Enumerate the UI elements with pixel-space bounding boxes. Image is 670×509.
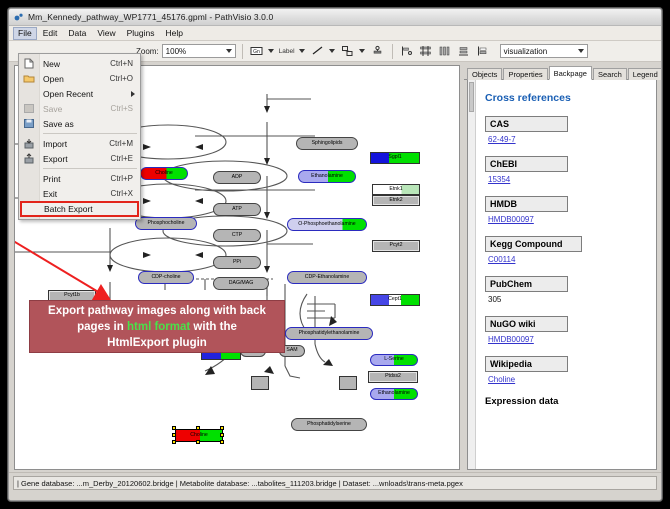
node-label: Choline: [190, 433, 208, 438]
file-menu-dropdown[interactable]: New Ctrl+N Open Ctrl+O Open Recent: [18, 53, 141, 220]
node-label: Ptdss2: [385, 374, 401, 379]
main-body: Choline ADP ATP Phosphocholine CTP: [9, 63, 661, 472]
menu-file[interactable]: File: [13, 27, 37, 40]
scrollbar-thumb[interactable]: [469, 82, 474, 112]
selection-handle-s[interactable]: [196, 440, 200, 444]
open-folder-icon: [23, 73, 35, 84]
node-ctp[interactable]: CTP: [213, 229, 261, 242]
callout-line-1: Export pathway images along with back: [30, 303, 284, 319]
file-menu-exit[interactable]: Exit Ctrl+X: [19, 186, 140, 201]
node-phosphatidylethanolamine[interactable]: Phosphatidylethanolamine: [285, 327, 373, 340]
xref-header-chebi: ChEBI: [485, 156, 568, 172]
node-label: PPi: [233, 260, 241, 265]
callout-line-3: HtmlExport plugin: [30, 335, 284, 351]
node-cdp-choline[interactable]: CDP-choline: [138, 271, 194, 284]
menu-plugins[interactable]: Plugins: [122, 27, 160, 40]
node-label: Ethanolamine: [311, 174, 343, 179]
node-sphingolipids[interactable]: Sphingolipids: [296, 137, 358, 150]
menu-data[interactable]: Data: [63, 27, 91, 40]
gray-marker-1: [251, 376, 269, 390]
xref-link-hmdb[interactable]: HMDB00097: [488, 215, 534, 224]
node-label: Pcyt1b: [64, 293, 80, 298]
file-menu-print[interactable]: Print Ctrl+P: [19, 171, 140, 186]
file-menu-separator-2: [43, 168, 137, 169]
selection-handle-ne[interactable]: [220, 426, 224, 430]
line-dropdown-icon[interactable]: [329, 49, 335, 53]
callout-line-2: pages in html format with the: [30, 319, 284, 335]
xref-link-wikipedia[interactable]: Choline: [488, 375, 515, 384]
node-label: Phosphocholine: [148, 221, 185, 226]
xref-value-chebi: 15354: [488, 175, 648, 184]
node-o-phosphoethanolamine[interactable]: O-Phosphoethanolamine: [287, 218, 367, 231]
file-menu-exit-accel: Ctrl+X: [111, 189, 140, 198]
xref-value-wikipedia: Choline: [488, 375, 648, 384]
xref-header-cas: CAS: [485, 116, 568, 132]
file-menu-print-label: Print: [43, 174, 111, 184]
shape-icon[interactable]: [340, 43, 356, 59]
backpage-panel: Cross references CAS 62-49-7 ChEBI 15354…: [467, 79, 657, 470]
node-label: L-Serine: [384, 357, 404, 362]
menu-edit[interactable]: Edit: [38, 27, 63, 40]
node-label: ATP: [232, 207, 242, 212]
node-ethanolamine-bottom[interactable]: Ethanolamine: [370, 388, 418, 400]
tab-backpage[interactable]: Backpage: [549, 66, 592, 80]
xref-value-pubchem: 305: [488, 295, 648, 304]
selection-handle-sw[interactable]: [172, 440, 176, 444]
menu-help[interactable]: Help: [161, 27, 188, 40]
label-dropdown-icon[interactable]: [299, 49, 305, 53]
file-menu-separator-1: [43, 133, 137, 134]
node-label: Cept1: [388, 297, 402, 302]
backpage-content: Cross references CAS 62-49-7 ChEBI 15354…: [477, 80, 654, 469]
selection-handle-w[interactable]: [172, 433, 176, 437]
cross-references-heading: Cross references: [485, 92, 648, 104]
xref-link-kegg[interactable]: C00114: [488, 255, 515, 264]
file-menu-new-label: New: [43, 59, 110, 69]
toolbar-divider: [242, 44, 243, 59]
node-label: CDP-choline: [151, 275, 180, 280]
tab-objects[interactable]: Objects: [467, 68, 502, 80]
selection-handle-n[interactable]: [196, 426, 200, 430]
tab-properties[interactable]: Properties: [503, 68, 547, 80]
node-label: Ethanolamine: [378, 391, 410, 396]
window-title: Mm_Kennedy_pathway_WP1771_45176.gpml - P…: [28, 12, 273, 22]
xref-value-cas: 62-49-7: [488, 135, 648, 144]
export-icon: [23, 153, 35, 164]
file-menu-batch-export[interactable]: Batch Export: [20, 201, 139, 217]
save-as-icon: [23, 118, 35, 129]
file-menu-open-accel: Ctrl+O: [110, 74, 140, 83]
file-menu-save-as[interactable]: Save as: [19, 116, 140, 131]
node-label: ADP: [232, 175, 243, 180]
menu-view[interactable]: View: [92, 27, 120, 40]
xref-value-hmdb: HMDB00097: [488, 215, 648, 224]
node-label: Phosphatidylethanolamine: [299, 331, 360, 336]
callout-highlight: html format: [127, 321, 190, 333]
file-menu-save-accel: Ctrl+S: [111, 104, 140, 113]
node-etnk2[interactable]: Etnk2: [372, 195, 420, 206]
xref-link-cas[interactable]: 62-49-7: [488, 135, 516, 144]
node-label: SAM: [286, 348, 297, 353]
node-ptdss2[interactable]: Ptdss2: [368, 371, 418, 383]
selection-handle-nw[interactable]: [172, 426, 176, 430]
gene-product-icon[interactable]: Gn: [249, 43, 265, 59]
file-menu-new-accel: Ctrl+N: [110, 59, 140, 68]
tab-legend[interactable]: Legend: [628, 68, 662, 80]
node-cept1[interactable]: Cept1: [370, 294, 420, 306]
screenshot-root: Mm_Kennedy_pathway_WP1771_45176.gpml - P…: [0, 0, 670, 509]
node-label: Sgpl1: [388, 155, 401, 160]
xref-header-hmdb: HMDB: [485, 196, 568, 212]
file-menu-import-accel: Ctrl+M: [109, 139, 140, 148]
zoom-value: 100%: [166, 47, 186, 56]
callout-line-2a: pages in: [77, 321, 127, 333]
selection-handle-se[interactable]: [220, 440, 224, 444]
node-l-serine[interactable]: L-Serine: [370, 354, 418, 366]
stack-icon[interactable]: [456, 43, 472, 59]
title-bar: Mm_Kennedy_pathway_WP1771_45176.gpml - P…: [9, 9, 661, 26]
file-menu-save-as-label: Save as: [43, 119, 140, 129]
node-choline-top[interactable]: Choline: [140, 167, 188, 180]
node-pcyt2[interactable]: Pcyt2: [372, 240, 420, 252]
file-menu-export[interactable]: Export Ctrl+E: [19, 151, 140, 166]
node-ethanolamine-top[interactable]: Ethanolamine: [298, 170, 356, 183]
node-label: Phosphatidylserine: [307, 422, 351, 427]
line-icon[interactable]: [310, 43, 326, 59]
align-left-icon[interactable]: [399, 43, 415, 59]
node-ppi[interactable]: PPi: [213, 256, 261, 269]
chevron-down-icon: [226, 49, 232, 53]
node-label: Pcyt2: [390, 243, 403, 248]
node-label: CDP-Ethanolamine: [305, 275, 349, 280]
selection-handle-e[interactable]: [220, 433, 224, 437]
toolbar-divider-2: [392, 44, 393, 59]
node-atp[interactable]: ATP: [213, 203, 261, 216]
file-menu-open-recent[interactable]: Open Recent: [19, 86, 140, 101]
node-dag-mag[interactable]: DAG/MAG: [213, 277, 269, 290]
xref-header-kegg: Kegg Compound: [485, 236, 582, 252]
node-phosphatidylserine[interactable]: Phosphatidylserine: [291, 418, 367, 431]
node-label: Sphingolipids: [312, 141, 343, 146]
label-button[interactable]: Label: [279, 48, 295, 55]
menu-bar[interactable]: File Edit Data View Plugins Help: [9, 26, 661, 41]
node-adp[interactable]: ADP: [213, 171, 261, 184]
visualization-value: visualization: [504, 47, 548, 56]
file-menu-open-label: Open: [43, 74, 110, 84]
save-icon: [23, 103, 35, 114]
xref-header-nugo: NuGO wiki: [485, 316, 568, 332]
zoom-combobox[interactable]: 100%: [162, 44, 236, 58]
node-cdp-ethanolamine[interactable]: CDP-Ethanolamine: [287, 271, 367, 284]
status-text: | Gene database: ...m_Derby_20120602.bri…: [13, 476, 657, 490]
file-menu-new[interactable]: New Ctrl+N: [19, 56, 140, 71]
file-menu-save: Save Ctrl+S: [19, 101, 140, 116]
file-menu-import-label: Import: [43, 139, 109, 149]
pathvisio-window: Mm_Kennedy_pathway_WP1771_45176.gpml - P…: [8, 8, 662, 501]
node-label: DAG/MAG: [229, 281, 254, 286]
file-menu-open-recent-label: Open Recent: [43, 89, 140, 99]
svg-text:Gn: Gn: [253, 49, 260, 55]
file-menu-batch-export-label: Batch Export: [44, 204, 137, 214]
chevron-right-icon: [131, 91, 135, 97]
anchor-icon[interactable]: [370, 43, 386, 59]
xref-value-nugo: HMDB00097: [488, 335, 648, 344]
node-sgpl1[interactable]: Sgpl1: [370, 152, 420, 164]
side-panel-tabs[interactable]: Objects Properties Backpage Search Legen…: [464, 65, 657, 80]
xref-value-kegg: C00114: [488, 255, 648, 264]
pathvisio-icon: [14, 12, 24, 22]
import-icon: [23, 138, 35, 149]
xref-link-chebi[interactable]: 15354: [488, 175, 510, 184]
chevron-down-icon-2: [578, 49, 584, 53]
status-bar: | Gene database: ...m_Derby_20120602.bri…: [9, 472, 661, 500]
node-label: Etnk1: [389, 187, 402, 192]
backpage-scrollbar[interactable]: [468, 80, 476, 469]
xref-header-pubchem: PubChem: [485, 276, 568, 292]
gene-dropdown-icon[interactable]: [268, 49, 274, 53]
file-menu-export-accel: Ctrl+E: [111, 154, 140, 163]
new-file-icon: [23, 58, 35, 69]
xref-header-wikipedia: Wikipedia: [485, 356, 568, 372]
node-phosphocholine[interactable]: Phosphocholine: [135, 217, 197, 230]
file-menu-export-label: Export: [43, 154, 111, 164]
distribute-icon[interactable]: [437, 43, 453, 59]
node-label: O-Phosphoethanolamine: [298, 222, 355, 227]
visualization-combobox[interactable]: visualization: [500, 44, 588, 58]
annotation-callout: Export pathway images along with back pa…: [29, 300, 285, 353]
file-menu-print-accel: Ctrl+P: [111, 174, 140, 183]
gray-marker-2: [339, 376, 357, 390]
file-menu-open[interactable]: Open Ctrl+O: [19, 71, 140, 86]
xref-link-nugo[interactable]: HMDB00097: [488, 335, 534, 344]
callout-line-2b: with the: [190, 321, 237, 333]
file-menu-import[interactable]: Import Ctrl+M: [19, 136, 140, 151]
align-center-icon[interactable]: [418, 43, 434, 59]
node-label: CTP: [232, 233, 242, 238]
shape-dropdown-icon[interactable]: [359, 49, 365, 53]
file-menu-save-label: Save: [43, 104, 111, 114]
order-icon[interactable]: [475, 43, 491, 59]
node-label: Etnk2: [389, 198, 402, 203]
side-panel: Objects Properties Backpage Search Legen…: [464, 65, 657, 470]
node-label: Choline: [155, 171, 173, 176]
node-etnk1[interactable]: Etnk1: [372, 184, 420, 195]
tab-search[interactable]: Search: [593, 68, 627, 80]
expression-data-heading: Expression data: [485, 396, 648, 407]
file-menu-exit-label: Exit: [43, 189, 111, 199]
